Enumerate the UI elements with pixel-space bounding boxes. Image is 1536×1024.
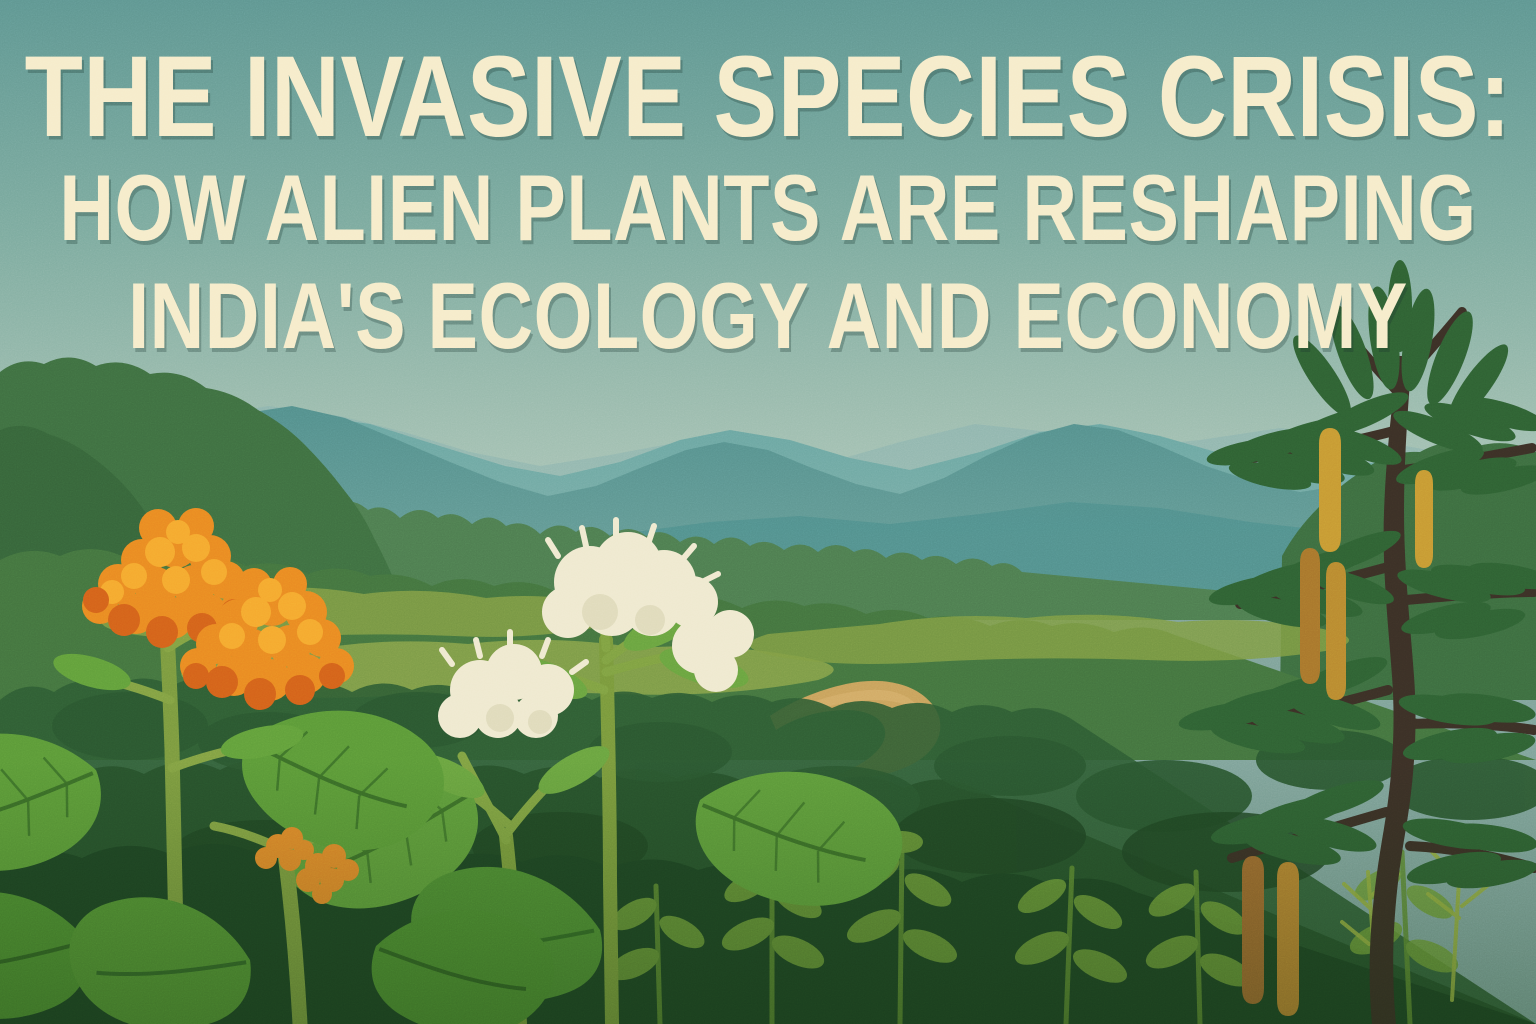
illustration-canvas: THE INVASIVE SPECIES CRISIS: HOW ALIEN P…	[0, 0, 1536, 1024]
leaf	[66, 890, 255, 1024]
leaf	[0, 703, 118, 898]
lantana-plant	[0, 0, 1536, 1024]
leaf	[358, 885, 566, 1024]
